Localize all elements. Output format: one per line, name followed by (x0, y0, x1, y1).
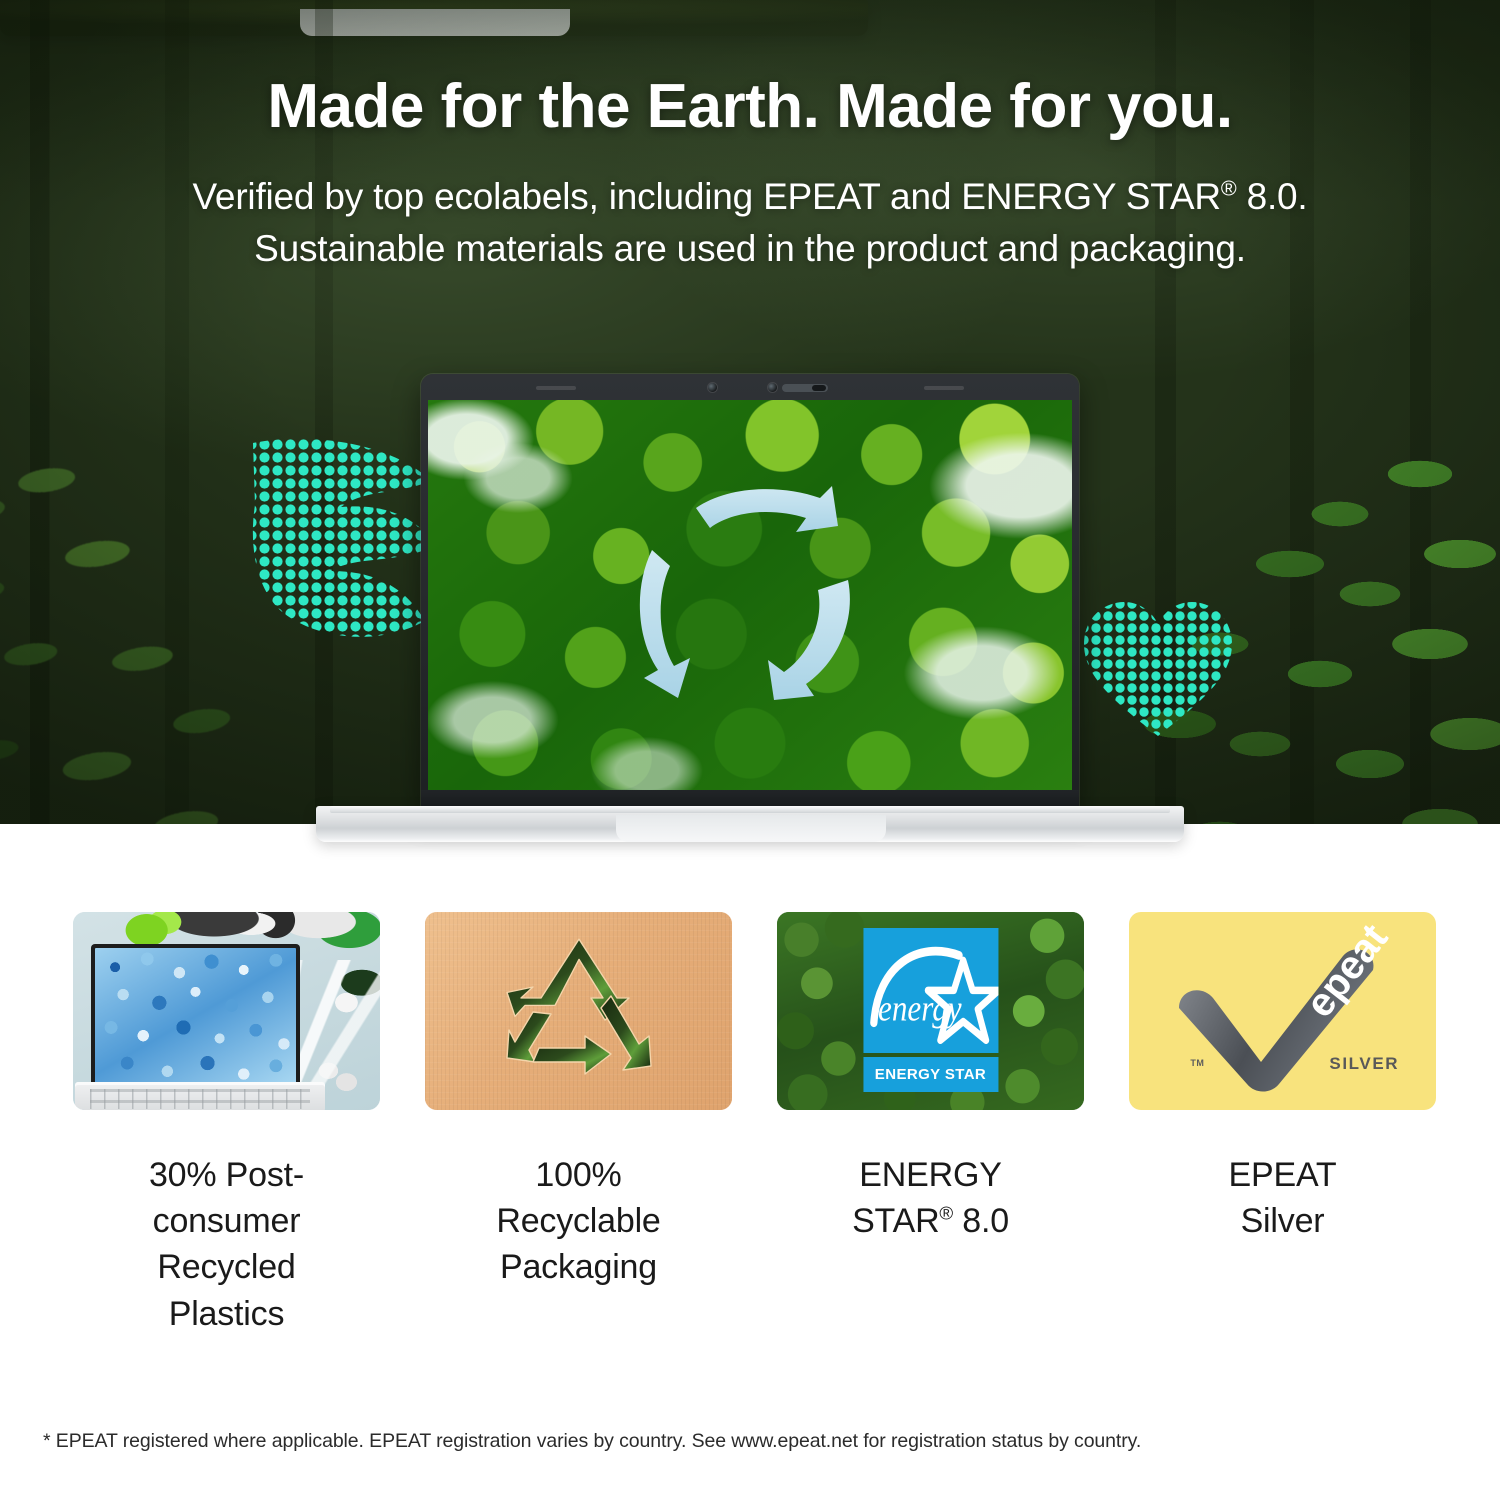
hero-subtitle-line2: Sustainable materials are used in the pr… (254, 228, 1246, 269)
epeat-silver-thumbnail: epeat TM SILVER (1129, 912, 1436, 1110)
registered-trademark-symbol: ® (939, 1203, 953, 1224)
trademark-symbol: TM (1190, 1058, 1204, 1068)
hero-subtitle-line1-post: 8.0. (1236, 176, 1307, 217)
label-line: Packaging (500, 1248, 657, 1286)
hero-banner: Made for the Earth. Made for you. Verifi… (0, 0, 1500, 824)
recycled-plastics-thumbnail (73, 912, 380, 1110)
feature-card-epeat-silver[interactable]: epeat TM SILVER EPEAT Silver (1129, 912, 1436, 1337)
label-line: 30% Post- (149, 1156, 304, 1194)
label-line: consumer (153, 1202, 301, 1240)
energy-star-logo: energy ENERGY STAR (863, 928, 998, 1094)
label-line: Plastics (169, 1295, 285, 1333)
energy-star-thumbnail: energy ENERGY STAR (777, 912, 1084, 1110)
feature-card-label: EPEAT Silver (1129, 1152, 1436, 1244)
recycle-symbol-icon (499, 936, 659, 1086)
feature-card-label: 100% Recyclable Packaging (425, 1152, 732, 1291)
sustainability-features: 30% Post- consumer Recycled Plastics (0, 912, 1500, 1337)
registered-trademark-symbol: ® (1221, 177, 1237, 201)
halftone-heart-icon (1078, 586, 1238, 746)
epeat-tier-label: SILVER (1329, 1054, 1399, 1074)
feature-card-recyclable-packaging[interactable]: 100% Recyclable Packaging (425, 912, 732, 1337)
feature-card-recycled-plastics[interactable]: 30% Post- consumer Recycled Plastics (73, 912, 380, 1337)
halftone-leaf-icon (245, 425, 445, 657)
label-line: Recycled (157, 1248, 295, 1286)
hero-subtitle-line1-pre: Verified by top ecolabels, including EPE… (193, 176, 1221, 217)
page-title: Made for the Earth. Made for you. (0, 74, 1500, 141)
label-line: EPEAT (1229, 1156, 1337, 1194)
hero-text-block: Made for the Earth. Made for you. Verifi… (0, 0, 1500, 276)
recyclable-packaging-thumbnail (425, 912, 732, 1110)
hero-subtitle: Verified by top ecolabels, including EPE… (0, 171, 1500, 276)
label-line: STAR (852, 1202, 939, 1240)
feature-card-label: ENERGY STAR® 8.0 (777, 1152, 1084, 1244)
feature-card-energy-star[interactable]: energy ENERGY STAR ENERGY STAR® 8.0 (777, 912, 1084, 1337)
legal-footnote: * EPEAT registered where applicable. EPE… (43, 1430, 1463, 1453)
label-line: ENERGY (859, 1156, 1001, 1194)
energy-star-wordmark: ENERGY STAR (863, 1057, 998, 1092)
label-line: 8.0 (953, 1202, 1009, 1240)
epeat-checkmark-icon: epeat (1129, 912, 1436, 1110)
label-line: Silver (1241, 1202, 1325, 1240)
epeat-wordmark: epeat (1297, 916, 1396, 1025)
eco-marketing-page: Made for the Earth. Made for you. Verifi… (0, 0, 1500, 1500)
svg-text:energy: energy (878, 988, 962, 1029)
label-line: Recyclable (496, 1202, 660, 1240)
label-line: 100% (535, 1156, 621, 1194)
feature-card-label: 30% Post- consumer Recycled Plastics (73, 1152, 380, 1337)
